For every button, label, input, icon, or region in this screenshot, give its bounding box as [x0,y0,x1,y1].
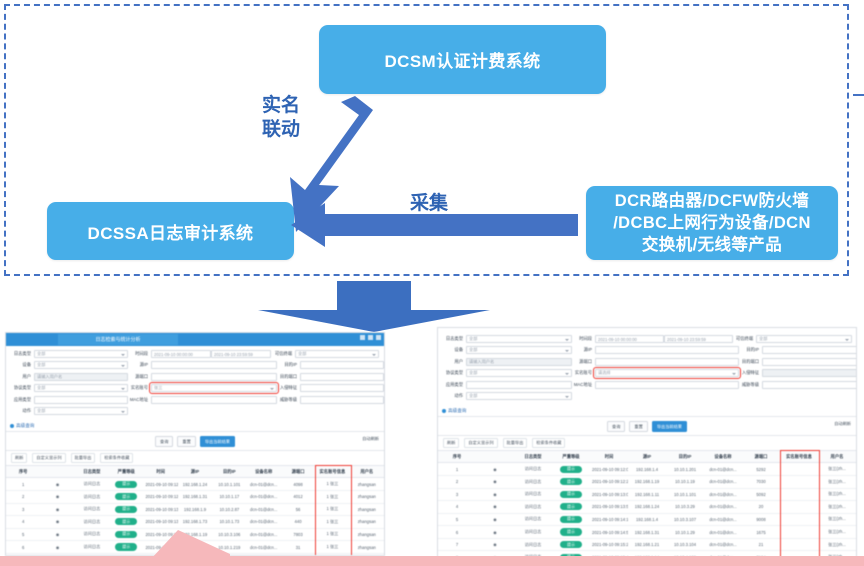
left-select-field[interactable]: 全部 [34,350,128,358]
left-field-label: 动作 [11,408,31,414]
cell-sport: 56 [281,503,315,516]
cell-time: 2021-09-10 09:13:02 [590,488,628,501]
right-field-label: 动作 [443,393,463,399]
right-table-header-row: 序号日志类型严重等级时间源IP目的IP设备名称源端口实名账号信息用户名 [438,451,856,463]
cell-realname-account: 1 张三 [315,541,349,554]
cell-dstip: 10.10.3.29 [666,501,704,514]
cell-severity: 提示 [552,513,590,526]
cell-dstip: 10.10.2.87 [212,503,246,516]
cell-realname-account [780,475,818,488]
table-row[interactable]: 4◉访问日志提示2021-09-10 09:13:54192.168.1.241… [438,501,856,514]
cell-realname-account: 1 张三 [315,516,349,529]
cell-srcip: 192.168.1.21 [628,538,666,551]
status-badge: 提示 [115,493,137,500]
right-toolbar-btn-2[interactable]: 批量导出 [503,438,528,448]
bottom-pink-diagonal [0,530,230,560]
right-col-8[interactable]: 源端口 [742,451,780,463]
cell-dstip: 10.10.1.73 [212,516,246,529]
cell-srcip: 192.168.1.4 [628,513,666,526]
cell-realname-account [780,488,818,501]
right-field-label: 应用类型 [443,382,463,388]
left-input-field[interactable] [300,373,384,381]
cell-device: dcn-01@dcn... [704,501,742,514]
architecture-diagram-panel: DCSM认证计费系统 DCSSA日志审计系统 DCR路由器/DCFW防火墙 /D… [4,4,849,276]
cell-device: dcn-01@dcn... [247,490,281,503]
cell-username: 张三(zh... [818,538,856,551]
cell-srcip: 192.168.1.24 [178,478,212,491]
status-badge: 提示 [560,478,582,485]
cell-sport: 4012 [281,490,315,503]
cell-no: 5 [438,513,476,526]
status-badge: 提示 [560,541,582,548]
row-checkbox[interactable]: ◉ [476,513,514,526]
right-search-form[interactable]: 日志类型全部时间段2021-09-10 00:00:00 2021-09-10 … [438,328,856,405]
cell-sport: 9008 [742,513,780,526]
left-autorefresh-label[interactable]: 自动刷新 [362,436,379,442]
cell-sport: 21 [742,538,780,551]
right-select-field[interactable]: 请选择 [595,369,739,377]
cell-dstip: 10.10.1.201 [666,463,704,476]
node-dcssa: DCSSA日志审计系统 [47,202,294,260]
cell-username: zhangsan [350,490,384,503]
left-search-form[interactable]: 日志类型全部时间段2021-09-10 00:00:00 2021-09-10 … [6,346,384,420]
left-form-row: 应用类型MAC地址威胁等级 [11,396,379,404]
node-dcsm: DCSM认证计费系统 [319,25,606,94]
cell-realname-account: 1 张三 [315,490,349,503]
left-col-5[interactable]: 源IP [178,466,212,478]
cell-srcip: 192.168.1.31 [178,490,212,503]
left-input-field[interactable] [151,373,277,381]
right-col-9[interactable]: 实名账号信息 [780,451,818,463]
node-devices-line3: 交换机/无线等产品 [613,234,811,256]
right-edge-tick [853,94,864,96]
left-table-header-row: 序号日志类型严重等级时间源IP目的IP设备名称源端口实名账号信息用户名 [6,466,384,478]
right-form-row: 动作全部 [443,392,851,400]
cell-username: zhangsan [350,541,384,554]
left-window-titlebar: 日志检索与统计分析 [6,333,384,346]
arrow-label-realname-linkage: 实名 联动 [246,94,316,142]
left-field-label: 用户 [11,374,31,380]
cell-time: 2021-09-10 09:12:01 [143,478,177,491]
cell-no: 6 [438,526,476,539]
cell-no: 4 [6,516,40,529]
row-checkbox[interactable]: ◉ [476,501,514,514]
left-input-field[interactable] [300,396,384,404]
right-button-0[interactable]: 查询 [607,421,625,432]
left-divider [6,431,384,432]
node-devices-line1: DCR路由器/DCFW防火墙 [613,190,811,212]
table-row[interactable]: 7◉访问日志提示2021-09-10 09:15:21192.168.1.211… [438,538,856,551]
cell-username: 张三(zh... [818,501,856,514]
left-window-controls[interactable] [360,335,381,340]
right-col-3[interactable]: 严重等级 [552,451,590,463]
cell-srcip: 192.168.1.24 [628,501,666,514]
right-field-label: 目的端口 [739,359,759,365]
cell-time: 2021-09-10 09:13:20 [143,516,177,529]
left-toolbar-btn-3[interactable]: 检索条件收藏 [100,453,133,463]
left-field-label: 源端口 [128,374,148,380]
cell-no: 4 [438,501,476,514]
left-col-2[interactable]: 日志类型 [75,466,109,478]
right-date-to-input[interactable]: 2021-09-10 23:59:59 [664,335,733,343]
cell-sport: 20 [742,501,780,514]
left-select-field[interactable]: 全部 [34,361,128,369]
cell-device: dcn-01@dcn... [247,478,281,491]
row-checkbox[interactable]: ◉ [476,488,514,501]
left-col-7[interactable]: 设备名称 [247,466,281,478]
left-form-row: 用户请输入用户名源端口目的端口 [11,373,379,381]
status-badge: 提示 [560,466,582,473]
cell-username: 张三(zh... [818,463,856,476]
left-select-field[interactable]: 张三 [151,384,277,392]
right-select-field[interactable]: 全部 [466,369,572,377]
right-col-4[interactable]: 时间 [590,451,628,463]
maximize-icon[interactable] [368,335,373,340]
left-field-label: 设备 [11,362,31,368]
cell-sport: 7803 [281,528,315,541]
cell-logtype: 访问日志 [514,475,552,488]
right-action-buttons[interactable]: 查询重置导出当前结果自动刷新 [438,419,856,435]
table-row[interactable]: 1◉访问日志提示2021-09-10 09:12:01192.168.1.241… [6,478,384,491]
cell-device: dcn-01@dcn... [704,463,742,476]
left-field-label: 时间段 [128,351,148,357]
screenshot-right-log-search[interactable]: 日志类型全部时间段2021-09-10 00:00:00 2021-09-10 … [437,327,857,559]
right-field-label: 协议类型 [443,370,463,376]
right-form-row: 设备全部源IP目的IP [443,346,851,354]
right-table-wrap: 序号日志类型严重等级时间源IP目的IP设备名称源端口实名账号信息用户名1◉访问日… [438,450,856,559]
cell-username: 张三(zh... [818,513,856,526]
right-button-1[interactable]: 重置 [629,421,647,432]
cell-logtype: 访问日志 [75,503,109,516]
cell-realname-account: 1 张三 [315,503,349,516]
cell-logtype: 访问日志 [514,463,552,476]
left-button-2[interactable]: 导出当前结果 [200,436,235,447]
row-checkbox[interactable]: ◉ [40,503,74,516]
table-row[interactable]: 2◉访问日志提示2021-09-10 09:12:44192.168.1.311… [6,490,384,503]
left-field-label: 可信终端 [272,351,292,357]
cell-dstip: 10.10.1.17 [212,490,246,503]
left-col-8[interactable]: 源端口 [281,466,315,478]
cell-username: zhangsan [350,516,384,529]
cell-time: 2021-09-10 09:12:01 [590,463,628,476]
left-col-9[interactable]: 实名账号信息 [315,466,349,478]
left-field-label: 源IP [128,362,148,368]
row-checkbox[interactable]: ◉ [40,490,74,503]
table-row[interactable]: 3◉访问日志提示2021-09-10 09:13:02192.168.1.910… [6,503,384,516]
row-checkbox[interactable]: ◉ [476,463,514,476]
plus-icon [10,424,14,428]
right-field-label: 源端口 [572,359,592,365]
cell-sport: 440 [281,516,315,529]
cell-realname-account [780,526,818,539]
plus-icon [442,409,446,413]
cell-no: 2 [6,490,40,503]
cell-severity: 提示 [109,516,143,529]
right-field-label: 用户 [443,359,463,365]
cell-realname-account: 1 张三 [315,528,349,541]
right-log-table[interactable]: 序号日志类型严重等级时间源IP目的IP设备名称源端口实名账号信息用户名1◉访问日… [438,450,856,559]
cell-device: dcn-01@dcn... [704,526,742,539]
right-field-label: MAC地址 [572,382,592,388]
left-col-1[interactable] [40,466,74,478]
status-badge: 提示 [115,506,137,513]
row-checkbox[interactable]: ◉ [40,478,74,491]
left-button-1[interactable]: 重置 [177,436,195,447]
right-field-label: 入侵特征 [739,370,759,376]
cell-device: dcn-01@dcn... [247,528,281,541]
cell-srcip: 192.168.1.31 [628,526,666,539]
right-select-field[interactable]: 全部 [466,346,572,354]
status-badge: 提示 [560,503,582,510]
left-toolbar-btn-1[interactable]: 自定义显示列 [32,453,65,463]
left-field-label: 协议类型 [11,385,31,391]
status-badge: 提示 [115,518,137,525]
cell-no: 2 [438,475,476,488]
cell-srcip: 192.168.1.19 [628,475,666,488]
left-field-label: 应用类型 [11,397,31,403]
left-input-field[interactable] [151,361,277,369]
cell-sport: 5092 [742,488,780,501]
left-input-field[interactable]: 请输入用户名 [34,373,128,381]
left-field-label: 目的端口 [277,374,297,380]
right-input-field[interactable] [595,381,739,389]
cell-srcip: 192.168.1.9 [178,503,212,516]
cell-time: 2021-09-10 09:14:51 [590,526,628,539]
right-input-field[interactable] [762,346,857,354]
status-badge: 提示 [560,491,582,498]
cell-time: 2021-09-10 09:13:02 [143,503,177,516]
right-col-2[interactable]: 日志类型 [514,451,552,463]
table-row[interactable]: 6◉访问日志提示2021-09-10 09:14:51192.168.1.311… [438,526,856,539]
cell-logtype: 访问日志 [514,538,552,551]
cell-no: 3 [438,488,476,501]
left-form-row: 设备全部源IP目的IP [11,361,379,369]
left-toolbar-btn-0[interactable]: 刷新 [11,453,27,463]
right-input-field[interactable] [762,369,857,377]
close-icon[interactable] [376,335,381,340]
cell-realname-account [780,513,818,526]
arrow-label-realname-line2: 联动 [246,118,316,142]
left-select-field[interactable]: 全部 [34,407,128,415]
left-col-3[interactable]: 严重等级 [109,466,143,478]
cell-time: 2021-09-10 09:15:21 [590,538,628,551]
cell-username: 张三(zh... [818,526,856,539]
cell-username: zhangsan [350,478,384,491]
left-col-4[interactable]: 时间 [143,466,177,478]
right-select-field[interactable]: 全部 [756,335,852,343]
cell-dstip: 10.10.1.101 [666,488,704,501]
cell-severity: 提示 [109,490,143,503]
right-field-label: 可信终端 [733,336,753,342]
right-advanced-section-title[interactable]: 高级查询 [442,408,856,414]
table-row[interactable]: 5◉访问日志提示2021-09-10 09:14:14192.168.1.410… [438,513,856,526]
right-col-0[interactable]: 序号 [438,451,476,463]
status-badge: 提示 [115,481,137,488]
left-window-title: 日志检索与统计分析 [58,334,178,345]
status-badge: 提示 [560,516,582,523]
right-input-field[interactable] [762,381,857,389]
cell-logtype: 访问日志 [514,501,552,514]
right-form-row: 用户请输入用户名源端口目的端口 [443,358,851,366]
cell-severity: 提示 [552,488,590,501]
cell-device: dcn-01@dcn... [704,475,742,488]
cell-srcip: 192.168.1.73 [178,516,212,529]
right-field-label: 威胁等级 [739,382,759,388]
row-checkbox[interactable]: ◉ [476,538,514,551]
cell-time: 2021-09-10 09:12:44 [143,490,177,503]
cell-username: zhangsan [350,528,384,541]
cell-time: 2021-09-10 09:13:54 [590,501,628,514]
right-col-7[interactable]: 设备名称 [704,451,742,463]
right-toolbar-btn-1[interactable]: 自定义显示列 [464,438,497,448]
arrow-label-collect-text: 采集 [410,193,448,214]
cell-logtype: 访问日志 [514,513,552,526]
cell-srcip: 192.168.1.4 [628,463,666,476]
left-date-to-input[interactable]: 2021-09-10 23:59:59 [211,350,271,358]
right-input-field[interactable] [762,358,857,366]
left-field-label: 目的IP [277,362,297,368]
left-field-label: MAC地址 [128,397,148,403]
cell-severity: 提示 [109,478,143,491]
table-row[interactable]: 2◉访问日志提示2021-09-10 09:12:21192.168.1.191… [438,475,856,488]
node-devices-line2: /DCBC上网行为设备/DCN [613,212,811,234]
cell-dstip: 10.10.1.101 [212,478,246,491]
cell-device: dcn-01@dcn... [247,516,281,529]
cell-device: dcn-01@dcn... [247,503,281,516]
screenshot-left-log-search[interactable]: 日志检索与统计分析 日志类型全部时间段2021-09-10 00:00:00 2… [5,332,385,556]
right-input-field[interactable] [466,381,572,389]
left-input-field[interactable] [151,396,277,404]
right-field-label: 设备 [443,347,463,353]
right-input-field[interactable]: 请输入用户名 [466,358,572,366]
left-date-from-input[interactable]: 2021-09-10 00:00:00 [151,350,211,358]
cell-sport: 31 [281,541,315,554]
arrow-label-collect: 采集 [389,188,469,215]
left-toolbar-btn-2[interactable]: 批量导出 [71,453,96,463]
cell-no: 1 [438,463,476,476]
left-input-field[interactable] [34,396,128,404]
right-col-5[interactable]: 源IP [628,451,666,463]
cell-sport: 5292 [742,463,780,476]
node-dcsm-label: DCSM认证计费系统 [384,47,540,72]
left-form-row: 动作全部 [11,407,379,415]
left-action-buttons[interactable]: 查询重置导出当前结果自动刷新 [6,434,384,450]
right-table-toolbar[interactable]: 刷新自定义显示列批量导出检索条件收藏 [438,435,856,450]
left-form-row: 日志类型全部时间段2021-09-10 00:00:00 2021-09-10 … [11,350,379,358]
right-col-1[interactable] [476,451,514,463]
left-table-toolbar[interactable]: 刷新自定义显示列批量导出检索条件收藏 [6,450,384,465]
row-checkbox[interactable]: ◉ [40,516,74,529]
left-select-field[interactable]: 全部 [34,384,128,392]
right-col-6[interactable]: 目的IP [666,451,704,463]
left-field-label: 威胁等级 [277,397,297,403]
table-row[interactable]: 4◉访问日志提示2021-09-10 09:13:20192.168.1.731… [6,516,384,529]
cell-severity: 提示 [552,526,590,539]
node-dcssa-label: DCSSA日志审计系统 [88,219,254,244]
right-field-label: 日志类型 [443,336,463,342]
arrow-label-realname-line1: 实名 [246,94,316,118]
cell-device: dcn-01@dcn... [704,488,742,501]
right-field-label: 实名账号 [572,370,592,376]
left-col-10[interactable]: 用户名 [350,466,384,478]
cell-realname-account: 1 张三 [315,478,349,491]
right-button-2[interactable]: 导出当前结果 [652,421,687,432]
cell-dstip: 10.10.3.104 [666,538,704,551]
left-form-row: 协议类型全部实名账号张三入侵特征 [11,384,379,392]
cell-realname-account [780,501,818,514]
left-button-0[interactable]: 查询 [155,436,173,447]
status-badge: 提示 [560,528,582,535]
right-form-row: 日志类型全部时间段2021-09-10 00:00:00 2021-09-10 … [443,335,851,343]
left-input-field[interactable] [300,384,384,392]
cell-severity: 提示 [552,475,590,488]
cell-time: 2021-09-10 09:14:14 [590,513,628,526]
left-field-label: 日志类型 [11,351,31,357]
row-checkbox[interactable]: ◉ [476,526,514,539]
right-field-label: 源IP [572,347,592,353]
right-autorefresh-label[interactable]: 自动刷新 [834,421,851,427]
right-select-field[interactable]: 全部 [466,335,572,343]
right-toolbar-btn-3[interactable]: 检索条件收藏 [532,438,565,448]
right-field-label: 目的IP [739,347,759,353]
cell-dstip: 10.10.1.19 [666,475,704,488]
cell-dstip: 10.10.3.107 [666,513,704,526]
left-advanced-section-title[interactable]: 高级查询 [10,423,384,429]
cell-sport: 4098 [281,478,315,491]
arrow-down-to-screenshots [258,281,490,332]
cell-sport: 7030 [742,475,780,488]
cell-username: zhangsan [350,503,384,516]
right-date-from-input[interactable]: 2021-09-10 00:00:00 [595,335,664,343]
left-col-0[interactable]: 序号 [6,466,40,478]
cell-no: 3 [6,503,40,516]
right-select-field[interactable]: 全部 [466,392,572,400]
right-input-field[interactable] [595,346,739,354]
right-divider [438,416,856,417]
minimize-icon[interactable] [360,335,365,340]
cell-realname-account [780,463,818,476]
cell-logtype: 访问日志 [514,488,552,501]
left-advanced-label: 高级查询 [16,423,34,429]
row-checkbox[interactable]: ◉ [476,475,514,488]
cell-srcip: 192.168.1.11 [628,488,666,501]
table-row[interactable]: 3◉访问日志提示2021-09-10 09:13:02192.168.1.111… [438,488,856,501]
cell-sport: 1675 [742,526,780,539]
cell-realname-account [780,538,818,551]
right-input-field[interactable] [595,358,739,366]
left-col-6[interactable]: 目的IP [212,466,246,478]
cell-username: 张三(zh... [818,475,856,488]
cell-severity: 提示 [552,463,590,476]
left-select-field[interactable]: 全部 [295,350,379,358]
cell-no: 1 [6,478,40,491]
table-row[interactable]: 1◉访问日志提示2021-09-10 09:12:01192.168.1.410… [438,463,856,476]
cell-device: dcn-01@dcn... [704,513,742,526]
cell-severity: 提示 [552,538,590,551]
cell-logtype: 访问日志 [75,478,109,491]
right-toolbar-btn-0[interactable]: 刷新 [443,438,459,448]
cell-username: 张三(zh... [818,488,856,501]
cell-device: dcn-01@dcn... [704,538,742,551]
left-field-label: 实名账号 [128,385,148,391]
left-field-label: 入侵特征 [277,385,297,391]
left-input-field[interactable] [300,361,384,369]
right-col-10[interactable]: 用户名 [818,451,856,463]
right-form-row: 应用类型MAC地址威胁等级 [443,381,851,389]
right-form-row: 协议类型全部实名账号请选择入侵特征 [443,369,851,377]
cell-severity: 提示 [552,501,590,514]
cell-time: 2021-09-10 09:12:21 [590,475,628,488]
